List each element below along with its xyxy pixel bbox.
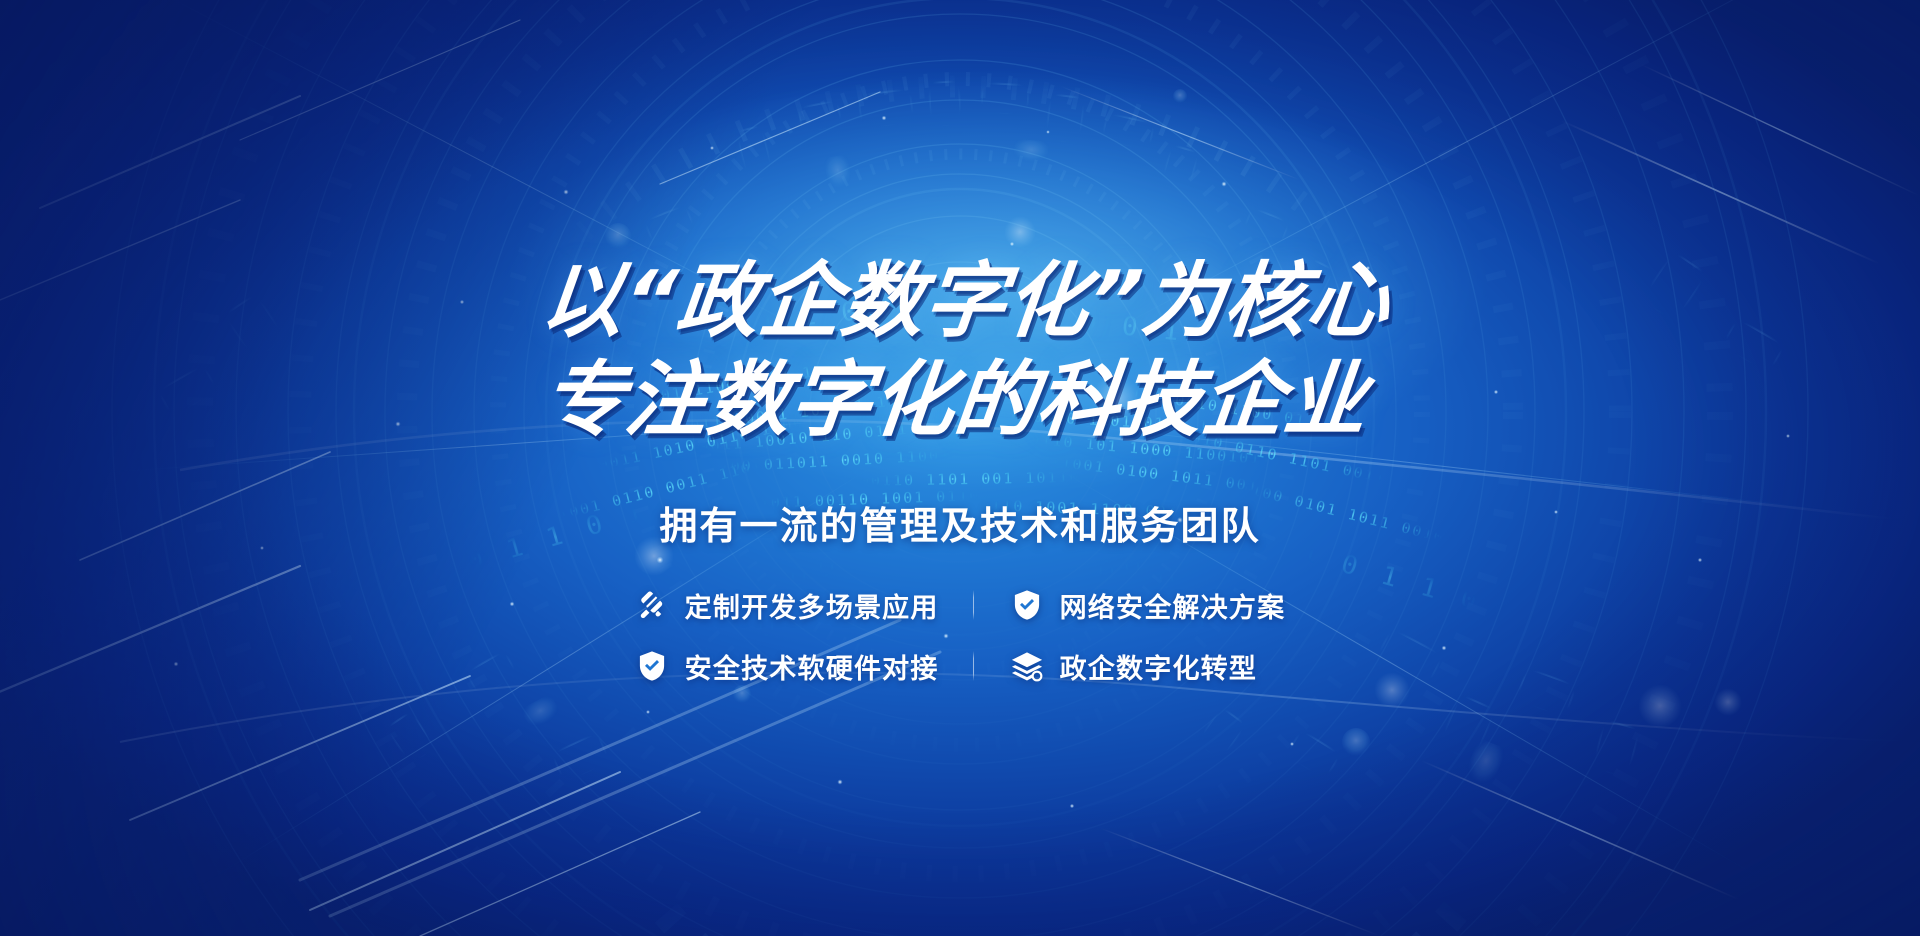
shield-check-icon bbox=[635, 649, 669, 683]
feature-label: 定制开发多场景应用 bbox=[685, 586, 939, 625]
banner-content: 以“政企数字化”为核心 专注数字化的科技企业 拥有一流的管理及技术和服务团队 定… bbox=[0, 0, 1920, 936]
feature-item-custom-development: 定制开发多场景应用 bbox=[635, 586, 973, 625]
feature-label: 网络安全解决方案 bbox=[1060, 586, 1286, 625]
feature-item-security-integration: 安全技术软硬件对接 bbox=[635, 647, 973, 686]
feature-item-network-security: 网络安全解决方案 bbox=[974, 586, 1286, 625]
code-slash-icon bbox=[635, 588, 669, 622]
feature-label: 安全技术软硬件对接 bbox=[685, 647, 939, 686]
headline-line-1: 以“政企数字化”为核心 bbox=[537, 259, 1394, 346]
feature-item-digital-transformation: 政企数字化转型 bbox=[974, 647, 1258, 686]
headline-line-2: 专注数字化的科技企业 bbox=[526, 358, 1383, 445]
feature-label: 政企数字化转型 bbox=[1060, 647, 1258, 686]
banner-subtitle: 拥有一流的管理及技术和服务团队 bbox=[659, 495, 1260, 550]
layers-stack-icon bbox=[1010, 649, 1044, 683]
shield-check-icon bbox=[1010, 588, 1044, 622]
hero-banner: 10110 0011 101001 1100 0011 10010 110 01… bbox=[0, 0, 1920, 936]
feature-list: 定制开发多场景应用 网络安全解决方案 bbox=[635, 586, 1286, 686]
page-title: 以“政企数字化”为核心 专注数字化的科技企业 bbox=[526, 259, 1393, 445]
